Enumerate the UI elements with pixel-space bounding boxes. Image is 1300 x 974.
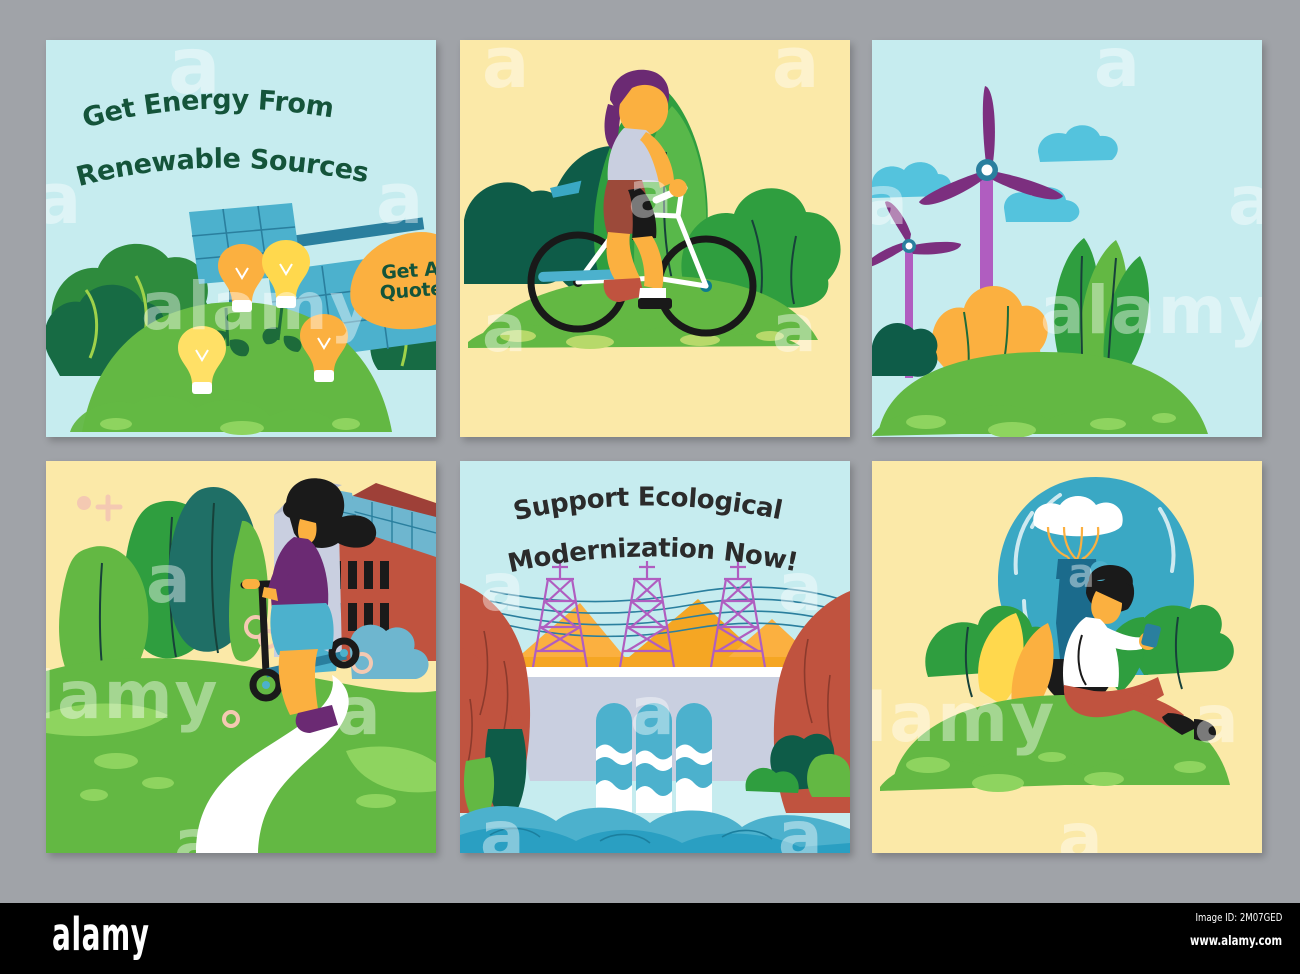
- bike-illustration: [460, 40, 850, 437]
- get-a-quote-line2: Quote: [379, 278, 436, 304]
- card-wind-energy[interactable]: a a a alamy Wind Energy Ut enim ad minim…: [872, 40, 1262, 437]
- card-electric-transport[interactable]: a alamy a a +25% Use Electric Transport …: [46, 461, 436, 853]
- solar-illustration: [46, 40, 436, 437]
- wind-illustration: [872, 40, 1262, 437]
- card-ecological-modernization[interactable]: Support Ecological Modernization Now! a …: [460, 461, 850, 853]
- dam-illustration: [460, 461, 850, 853]
- watermark-footer-bar: [0, 903, 1300, 974]
- footer-url[interactable]: www.alamy.com: [1190, 934, 1282, 949]
- scooter-illustration: [46, 461, 436, 853]
- card-save-the-planet[interactable]: a a a a a <40K Save The Planet: [460, 40, 850, 437]
- bulb-illustration: [872, 461, 1262, 853]
- alamy-logo: alamy: [52, 908, 150, 961]
- card-renewable-sources[interactable]: Get Energy From Renewable Sources a a a …: [46, 40, 436, 437]
- poster-sheet: Get Energy From Renewable Sources a a a …: [0, 0, 1300, 974]
- card-clean-energy[interactable]: alamy a a a 60% Clean Energy For You: [872, 461, 1262, 853]
- footer-image-id: Image ID: 2M07GED: [1195, 911, 1282, 924]
